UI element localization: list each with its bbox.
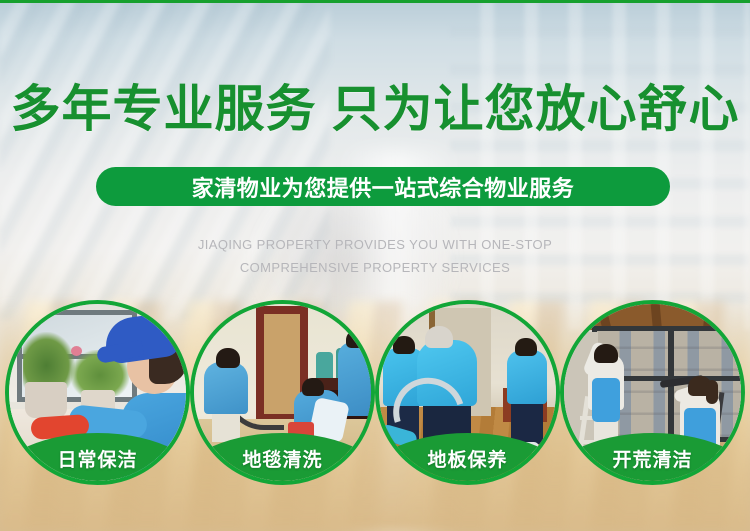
background-window-grid [450, 0, 750, 330]
subtitle-line-1: JIAQING PROPERTY PROVIDES YOU WITH ONE-S… [0, 233, 750, 256]
service-circle-daily-cleaning[interactable]: 日常保洁 [5, 300, 190, 485]
page-title: 多年专业服务 只为让您放心舒心 [0, 80, 750, 138]
promo-banner: 多年专业服务 只为让您放心舒心 家清物业为您提供一站式综合物业服务 JIAQIN… [0, 0, 750, 531]
service-circle-row: 日常保洁 地毯清洗 [0, 300, 750, 531]
tagline-pill: 家清物业为您提供一站式综合物业服务 [96, 167, 670, 206]
service-circle-post-construction-cleaning[interactable]: 开荒清洁 [560, 300, 745, 485]
tagline-text: 家清物业为您提供一站式综合物业服务 [192, 171, 575, 203]
subtitle-line-2: COMPREHENSIVE PROPERTY SERVICES [0, 256, 750, 279]
subtitle-english: JIAQING PROPERTY PROVIDES YOU WITH ONE-S… [0, 233, 750, 279]
service-circle-floor-maintenance[interactable]: 地板保养 [375, 300, 560, 485]
service-label-text: 开荒清洁 [612, 445, 692, 485]
service-label-text: 日常保洁 [57, 445, 137, 485]
service-circle-carpet-cleaning[interactable]: 地毯清洗 [190, 300, 375, 485]
service-label-text: 地毯清洗 [242, 445, 322, 485]
top-accent-rule [0, 0, 750, 3]
service-label-text: 地板保养 [427, 445, 507, 485]
